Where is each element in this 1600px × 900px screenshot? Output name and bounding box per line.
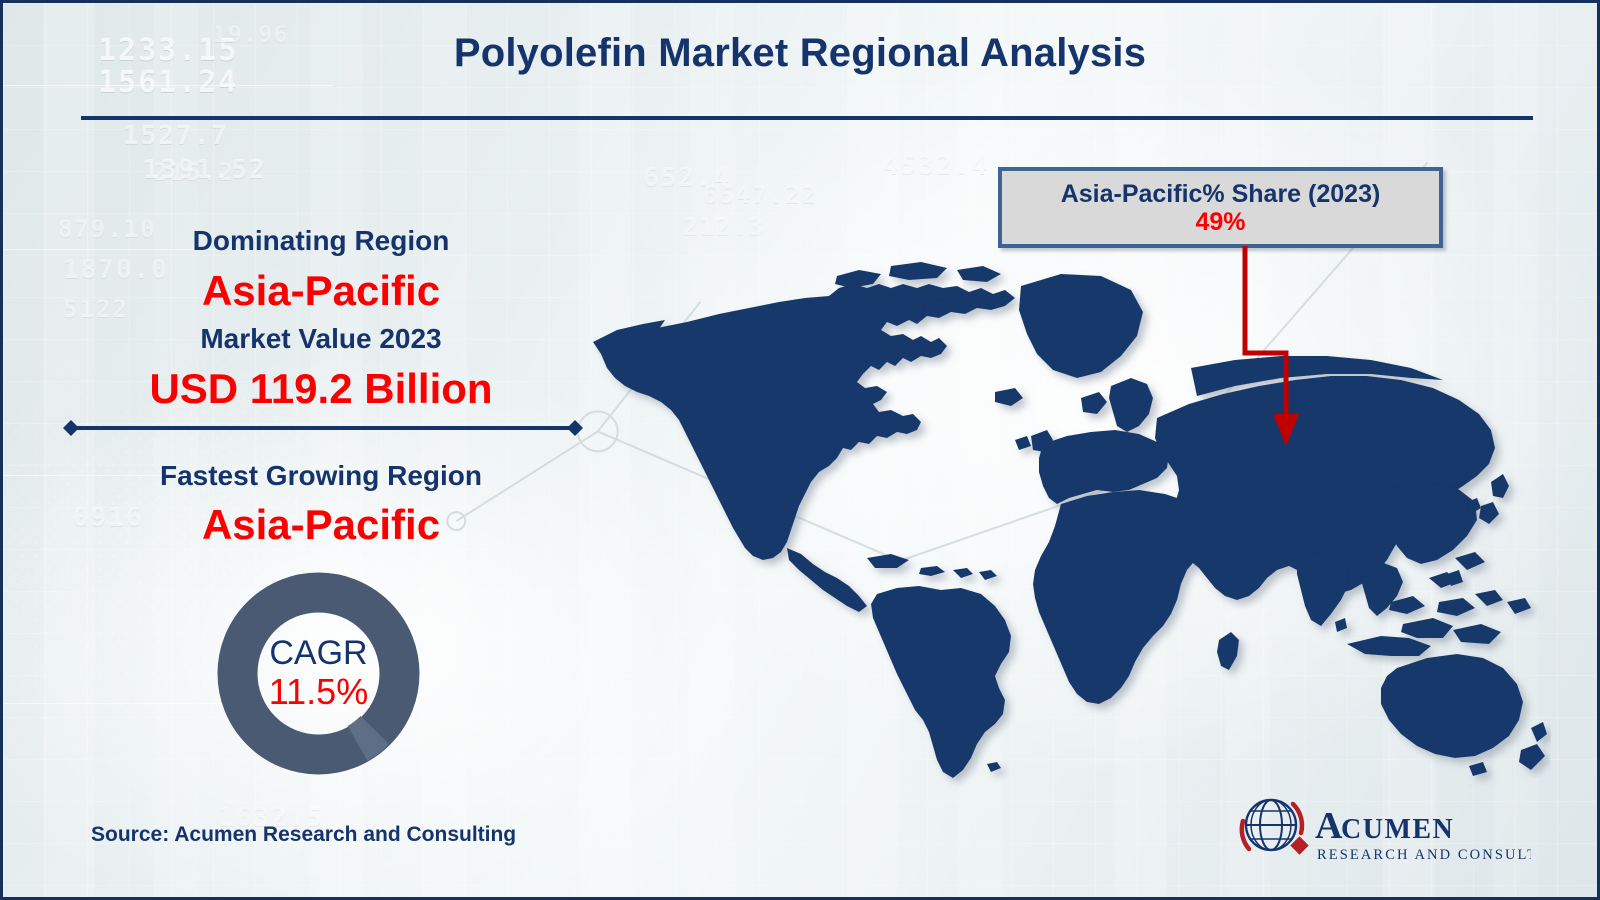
callout-title: Asia-Pacific% Share (2023) [1061, 180, 1381, 208]
callout-pointer-arrow [1213, 246, 1333, 456]
cagr-donut-center-text: CAGR 11.5% [216, 571, 421, 776]
title-underline-rule [81, 116, 1533, 120]
background-rule [3, 85, 333, 86]
world-map [591, 258, 1551, 798]
infographic-canvas: 1233.15 1561.24 1527.7 1391.52 1870.0 51… [0, 0, 1600, 900]
map-landmasses [593, 262, 1547, 778]
background-ticker-value: 6547.22 [703, 181, 818, 209]
logo-wordmark: A [1315, 805, 1343, 847]
dominating-region-value: Asia-Pacific [61, 267, 581, 315]
source-attribution: Source: Acumen Research and Consulting [91, 823, 516, 847]
acumen-logo: A CUMEN RESEARCH AND CONSULTING [1231, 791, 1531, 869]
asia-pacific-share-callout: Asia-Pacific% Share (2023) 49% [998, 167, 1443, 248]
fastest-growing-region-value: Asia-Pacific [61, 501, 581, 549]
dominating-region-label: Dominating Region [61, 225, 581, 257]
market-value-label: Market Value 2023 [61, 323, 581, 355]
background-ticker-value: 1527.7 [123, 121, 229, 151]
logo-tagline: RESEARCH AND CONSULTING [1317, 847, 1531, 863]
background-rule [3, 703, 223, 704]
globe-icon [1242, 800, 1309, 855]
callout-value: 49% [1195, 208, 1245, 236]
cagr-value: 11.5% [269, 672, 368, 712]
fastest-growing-region-label: Fastest Growing Region [61, 460, 581, 492]
background-ticker-value: 212.3 [683, 213, 765, 241]
background-ticker-value: 4532.4 [883, 151, 989, 181]
background-ticker-value: 215.2 [153, 158, 235, 186]
market-value-value: USD 119.2 Billion [61, 365, 581, 413]
section-divider [61, 419, 585, 437]
logo-wordmark-rest: CUMEN [1341, 814, 1454, 845]
cagr-label: CAGR [269, 635, 367, 672]
page-title: Polyolefin Market Regional Analysis [3, 31, 1597, 76]
